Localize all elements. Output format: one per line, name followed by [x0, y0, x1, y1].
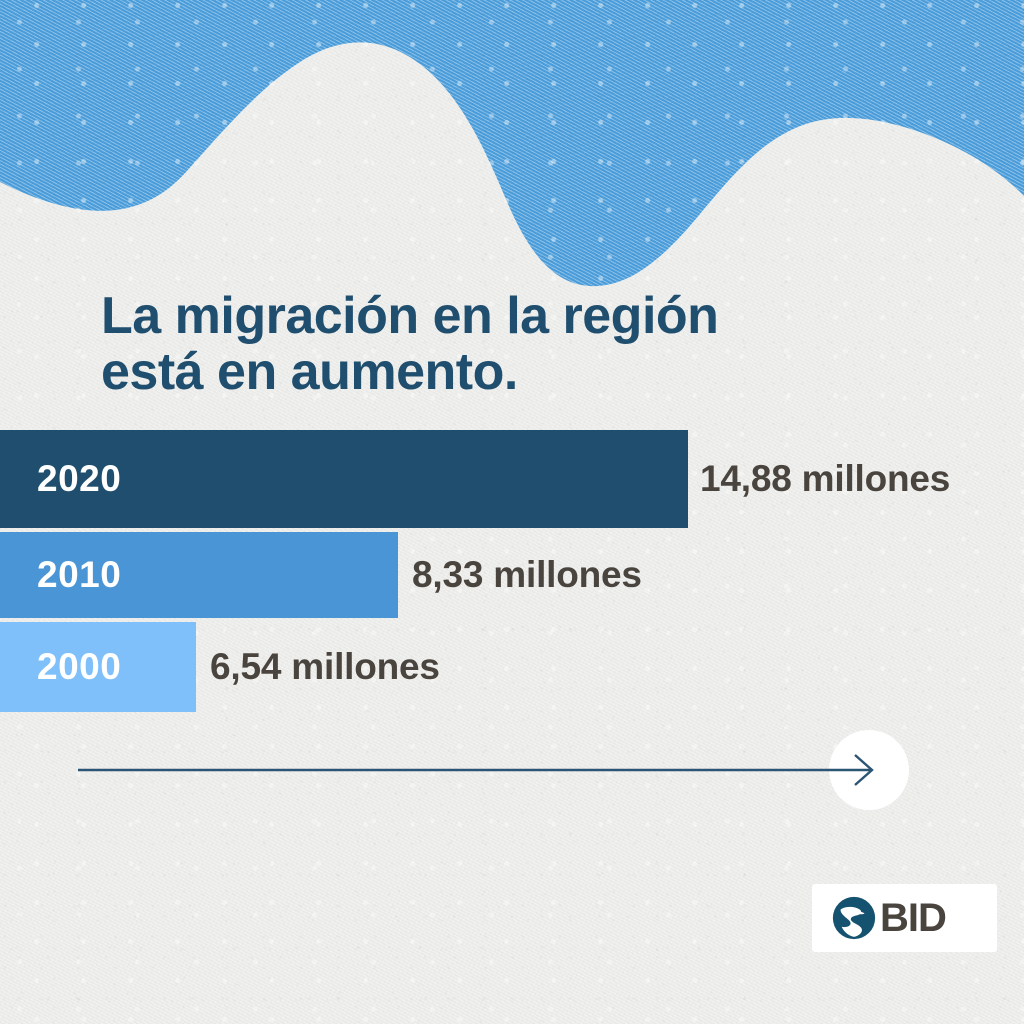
arrow-right-icon[interactable] — [0, 726, 1024, 818]
idb-logo-text: BID — [880, 898, 946, 938]
page-title: La migración en la región está en aument… — [101, 289, 901, 400]
bar-row-2010: 2010 8,33 millones — [0, 532, 1024, 618]
idb-logo: BID — [812, 884, 997, 952]
bar-2010: 2010 — [0, 532, 398, 618]
bar-value-label-2000: 6,54 millones — [210, 622, 440, 712]
bar-row-2020: 2020 14,88 millones — [0, 430, 1024, 528]
bar-2000: 2000 — [0, 622, 196, 712]
bar-2020: 2020 — [0, 430, 688, 528]
bar-row-2000: 2000 6,54 millones — [0, 622, 1024, 712]
bar-year-label-2000: 2000 — [37, 646, 121, 688]
bar-value-label-2020: 14,88 millones — [700, 430, 950, 528]
bar-year-label-2010: 2010 — [37, 554, 121, 596]
bar-value-label-2010: 8,33 millones — [412, 532, 642, 618]
progress-arrow[interactable] — [0, 726, 1024, 818]
infographic-canvas: La migración en la región está en aument… — [0, 0, 1024, 1024]
bar-year-label-2020: 2020 — [37, 458, 121, 500]
idb-globe-icon — [832, 896, 876, 940]
